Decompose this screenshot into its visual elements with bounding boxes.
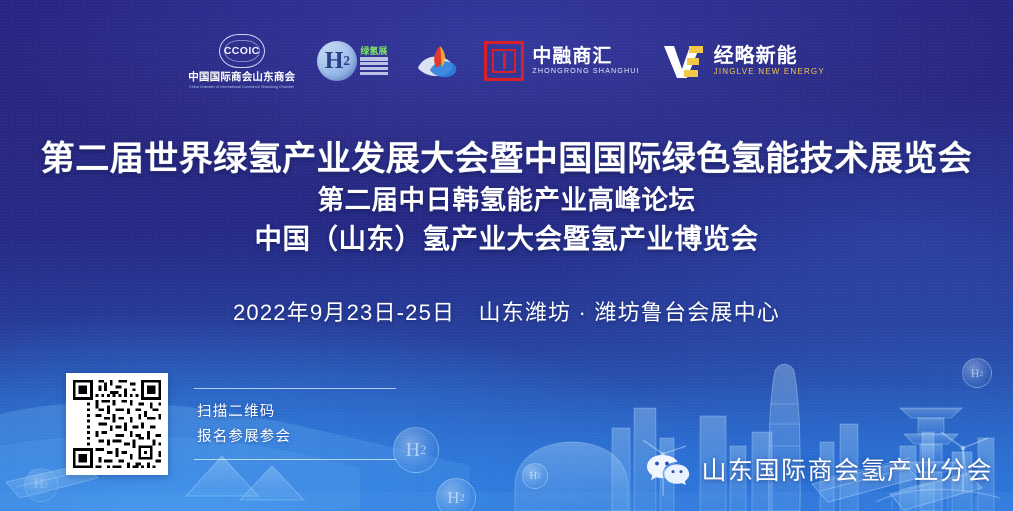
event-date-venue: 2022年9月23日-25日 山东潍坊 · 潍坊鲁台会展中心 bbox=[0, 295, 1013, 327]
logo-jinglve-new-energy: 经略新能 JINGLVE NEW ENERGY bbox=[662, 42, 825, 80]
qr-caption: 扫描二维码 报名参展参会 bbox=[194, 373, 396, 475]
h2-globe-icon: H2 bbox=[317, 41, 357, 81]
h2-bubble-icon: H2 bbox=[522, 463, 548, 489]
zhongrong-text: 中融商汇 ZHONGRONG SHANGHUI bbox=[532, 47, 639, 74]
logo-h2-expo: H2 绿氢展 bbox=[317, 41, 388, 81]
h2-bubble-icon: H2 bbox=[962, 358, 992, 388]
qr-rule-bottom bbox=[194, 459, 396, 460]
wechat-account-block: 山东国际商会氢产业分会 bbox=[646, 451, 993, 487]
registration-qr-block: 扫描二维码 报名参展参会 bbox=[66, 373, 396, 475]
h2-bubble-icon: H2 bbox=[24, 468, 58, 502]
qr-code-image[interactable] bbox=[66, 373, 168, 475]
jinglve-ve-icon bbox=[662, 42, 706, 80]
h2-bubble-icon: H2 bbox=[436, 478, 476, 511]
zhongrong-seal-icon bbox=[484, 41, 524, 81]
event-title-line-3: 中国（山东）氢产业大会暨氢产业博览会 bbox=[0, 221, 1013, 257]
logo-ccoic-shandong: CCOIC 中国国际商会山东商会 China Chamber of Intern… bbox=[188, 34, 295, 89]
h2-logo-bars bbox=[360, 57, 388, 75]
ccoic-globe-icon: CCOIC bbox=[219, 34, 265, 68]
qr-caption-line-2: 报名参展参会 bbox=[197, 425, 393, 450]
event-poster: H2 H2 H2 H2 H2 CCOIC 中国国际商会山东商会 China Ch… bbox=[0, 0, 1013, 511]
sponsor-logo-bar: CCOIC 中国国际商会山东商会 China Chamber of Intern… bbox=[0, 30, 1013, 92]
wechat-icon bbox=[646, 453, 690, 485]
zhongrong-name-cn: 中融商汇 bbox=[532, 47, 639, 66]
qr-caption-line-1: 扫描二维码 bbox=[197, 400, 393, 425]
logo-swirl-mark bbox=[410, 40, 462, 82]
ccoic-name-cn: 中国国际商会山东商会 bbox=[188, 69, 295, 84]
wechat-account-name: 山东国际商会氢产业分会 bbox=[701, 451, 993, 487]
headline-block: 第二届世界绿氢产业发展大会暨中国国际绿色氢能技术展览会 第二届中日韩氢能产业高峰… bbox=[0, 140, 1013, 256]
jinglve-text: 经略新能 JINGLVE NEW ENERGY bbox=[714, 46, 825, 76]
jinglve-name-cn: 经略新能 bbox=[714, 46, 825, 66]
zhongrong-name-en: ZHONGRONG SHANGHUI bbox=[532, 67, 639, 74]
qr-caption-lines: 扫描二维码 报名参展参会 bbox=[194, 389, 396, 460]
ccoic-name-en: China Chamber of International Commerce … bbox=[189, 85, 294, 89]
h2-logo-side: 绿氢展 bbox=[360, 47, 388, 75]
h2-bubble-icon: H2 bbox=[393, 427, 439, 473]
ccoic-mark-text: CCOIC bbox=[224, 45, 260, 57]
event-title-line-2: 第二届中日韩氢能产业高峰论坛 bbox=[0, 183, 1013, 217]
h2-tagline-cn: 绿氢展 bbox=[360, 47, 388, 56]
logo-zhongrong-shanghui: 中融商汇 ZHONGRONG SHANGHUI bbox=[484, 41, 639, 81]
jinglve-name-en: JINGLVE NEW ENERGY bbox=[714, 68, 825, 76]
event-title-line-1: 第二届世界绿氢产业发展大会暨中国国际绿色氢能技术展览会 bbox=[0, 140, 1013, 178]
